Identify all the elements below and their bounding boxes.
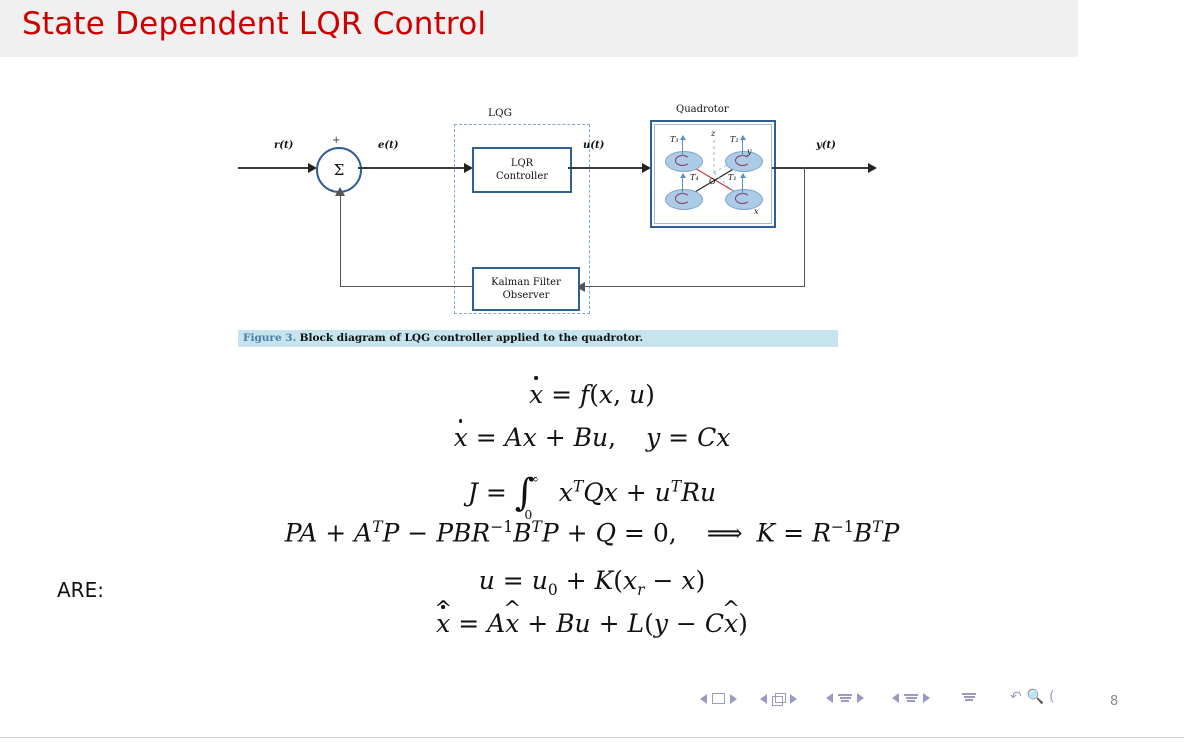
- estimate-feedback-up-line: [340, 195, 341, 287]
- output-feedback-line: [584, 286, 805, 287]
- quadrotor-plant-block: T₃ T₂ T₄ T₁ z y x O: [650, 120, 776, 228]
- thrust-arrow-3: [682, 139, 683, 156]
- thrust-arrow-4: [682, 177, 683, 194]
- summing-plus-sign: +: [332, 135, 340, 146]
- origin-label: O: [709, 177, 716, 186]
- figure-caption: Figure 3. Block diagram of LQG controlle…: [243, 330, 643, 347]
- document-icon[interactable]: [962, 693, 976, 701]
- slide-title-bar: State Dependent LQR Control: [0, 0, 1078, 57]
- rotor-2-spin-icon: [735, 155, 750, 166]
- output-arrowhead: [868, 163, 877, 173]
- equation-cost-functional: J = ∫∞0xTQx + uTRu: [0, 466, 1184, 518]
- subsection-icon[interactable]: [838, 694, 852, 702]
- forward-icon[interactable]: (: [1049, 689, 1054, 705]
- beamer-navigation-bar[interactable]: ↶ 🔍 (: [700, 690, 1100, 712]
- signal-label-control: u(t): [583, 140, 604, 151]
- summing-minus-sign: -: [330, 185, 333, 196]
- equation-state-linear: x = Ax + Bu,y = Cx: [0, 423, 1184, 466]
- signal-label-output: y(t): [816, 140, 836, 151]
- slide-prev-icon[interactable]: [700, 694, 707, 704]
- equation-block: x = f(x, u) x = Ax + Bu,y = Cx J = ∫∞0xT…: [0, 380, 1184, 652]
- slide-icon[interactable]: [712, 693, 725, 704]
- section-prev-icon[interactable]: [892, 693, 899, 703]
- axis-label-x: x: [754, 207, 759, 216]
- estimate-feedback-arrowhead: [335, 187, 345, 196]
- thrust-arrowhead-1: [740, 173, 746, 178]
- thrust-label-2: T₂: [730, 135, 739, 144]
- control-line: [568, 167, 648, 169]
- equation-control-law: u = u0 + K(xr − x): [0, 566, 1184, 609]
- kalman-filter-label-line1: Kalman Filter: [491, 276, 561, 290]
- thrust-arrow-1: [742, 177, 743, 194]
- page-title: State Dependent LQR Control: [22, 6, 486, 42]
- section-next-icon[interactable]: [923, 693, 930, 703]
- lqr-controller-label-line1: LQR: [511, 157, 533, 171]
- output-feedback-down-line: [804, 167, 805, 287]
- kalman-filter-block: Kalman Filter Observer: [472, 267, 580, 311]
- equation-state-nonlinear: x = f(x, u): [0, 380, 1184, 423]
- bottom-divider: [0, 737, 1184, 738]
- quadrotor-image: T₃ T₂ T₄ T₁ z y x O: [654, 124, 772, 224]
- signal-label-reference: r(t): [274, 140, 293, 151]
- reference-input-line: [238, 167, 310, 169]
- thrust-arrowhead-2: [740, 135, 746, 140]
- are-label: ARE:: [57, 578, 104, 602]
- back-icon[interactable]: ↶: [1010, 689, 1022, 705]
- plant-label: Quadrotor: [676, 104, 729, 115]
- signal-label-error: e(t): [378, 140, 398, 151]
- section-icon[interactable]: [904, 694, 918, 702]
- frame-next-icon[interactable]: [790, 694, 797, 704]
- thrust-label-3: T₃: [670, 135, 679, 144]
- thrust-arrowhead-3: [680, 135, 686, 140]
- equation-riccati: PA + ATP − PBR−1BTP + Q = 0,⟹K = R−1BTP: [0, 518, 1184, 566]
- thrust-label-1: T₁: [728, 173, 737, 182]
- thrust-label-4: T₄: [690, 173, 699, 182]
- slide-next-icon[interactable]: [730, 694, 737, 704]
- thrust-arrow-2: [742, 139, 743, 156]
- thrust-arrowhead-4: [680, 173, 686, 178]
- rotor-4-spin-icon: [675, 193, 690, 204]
- search-icon[interactable]: 🔍: [1027, 689, 1044, 705]
- lqr-controller-block: LQR Controller: [472, 147, 572, 193]
- subsection-next-icon[interactable]: [857, 693, 864, 703]
- rotor-1-spin-icon: [735, 193, 750, 204]
- block-diagram-figure: r(t) Σ + - e(t) LQG LQR Controller u(t) …: [238, 95, 878, 345]
- axis-label-z: z: [711, 129, 715, 138]
- figure-caption-number: Figure 3.: [243, 332, 296, 344]
- estimate-feedback-line: [340, 286, 472, 287]
- frame-prev-icon[interactable]: [760, 694, 767, 704]
- axis-label-y: y: [747, 147, 752, 156]
- lqr-controller-label-line2: Controller: [496, 170, 548, 184]
- lqg-group-label: LQG: [488, 107, 512, 119]
- output-line: [772, 167, 874, 169]
- rotor-3-spin-icon: [675, 155, 690, 166]
- figure-caption-body: Block diagram of LQG controller applied …: [300, 332, 644, 344]
- kalman-filter-label-line2: Observer: [503, 289, 550, 303]
- page-number: 8: [1110, 694, 1118, 709]
- subsection-prev-icon[interactable]: [826, 693, 833, 703]
- equation-observer: x = Ax + Bu + L(y − Cx): [0, 609, 1184, 652]
- frame-icon[interactable]: [772, 693, 785, 704]
